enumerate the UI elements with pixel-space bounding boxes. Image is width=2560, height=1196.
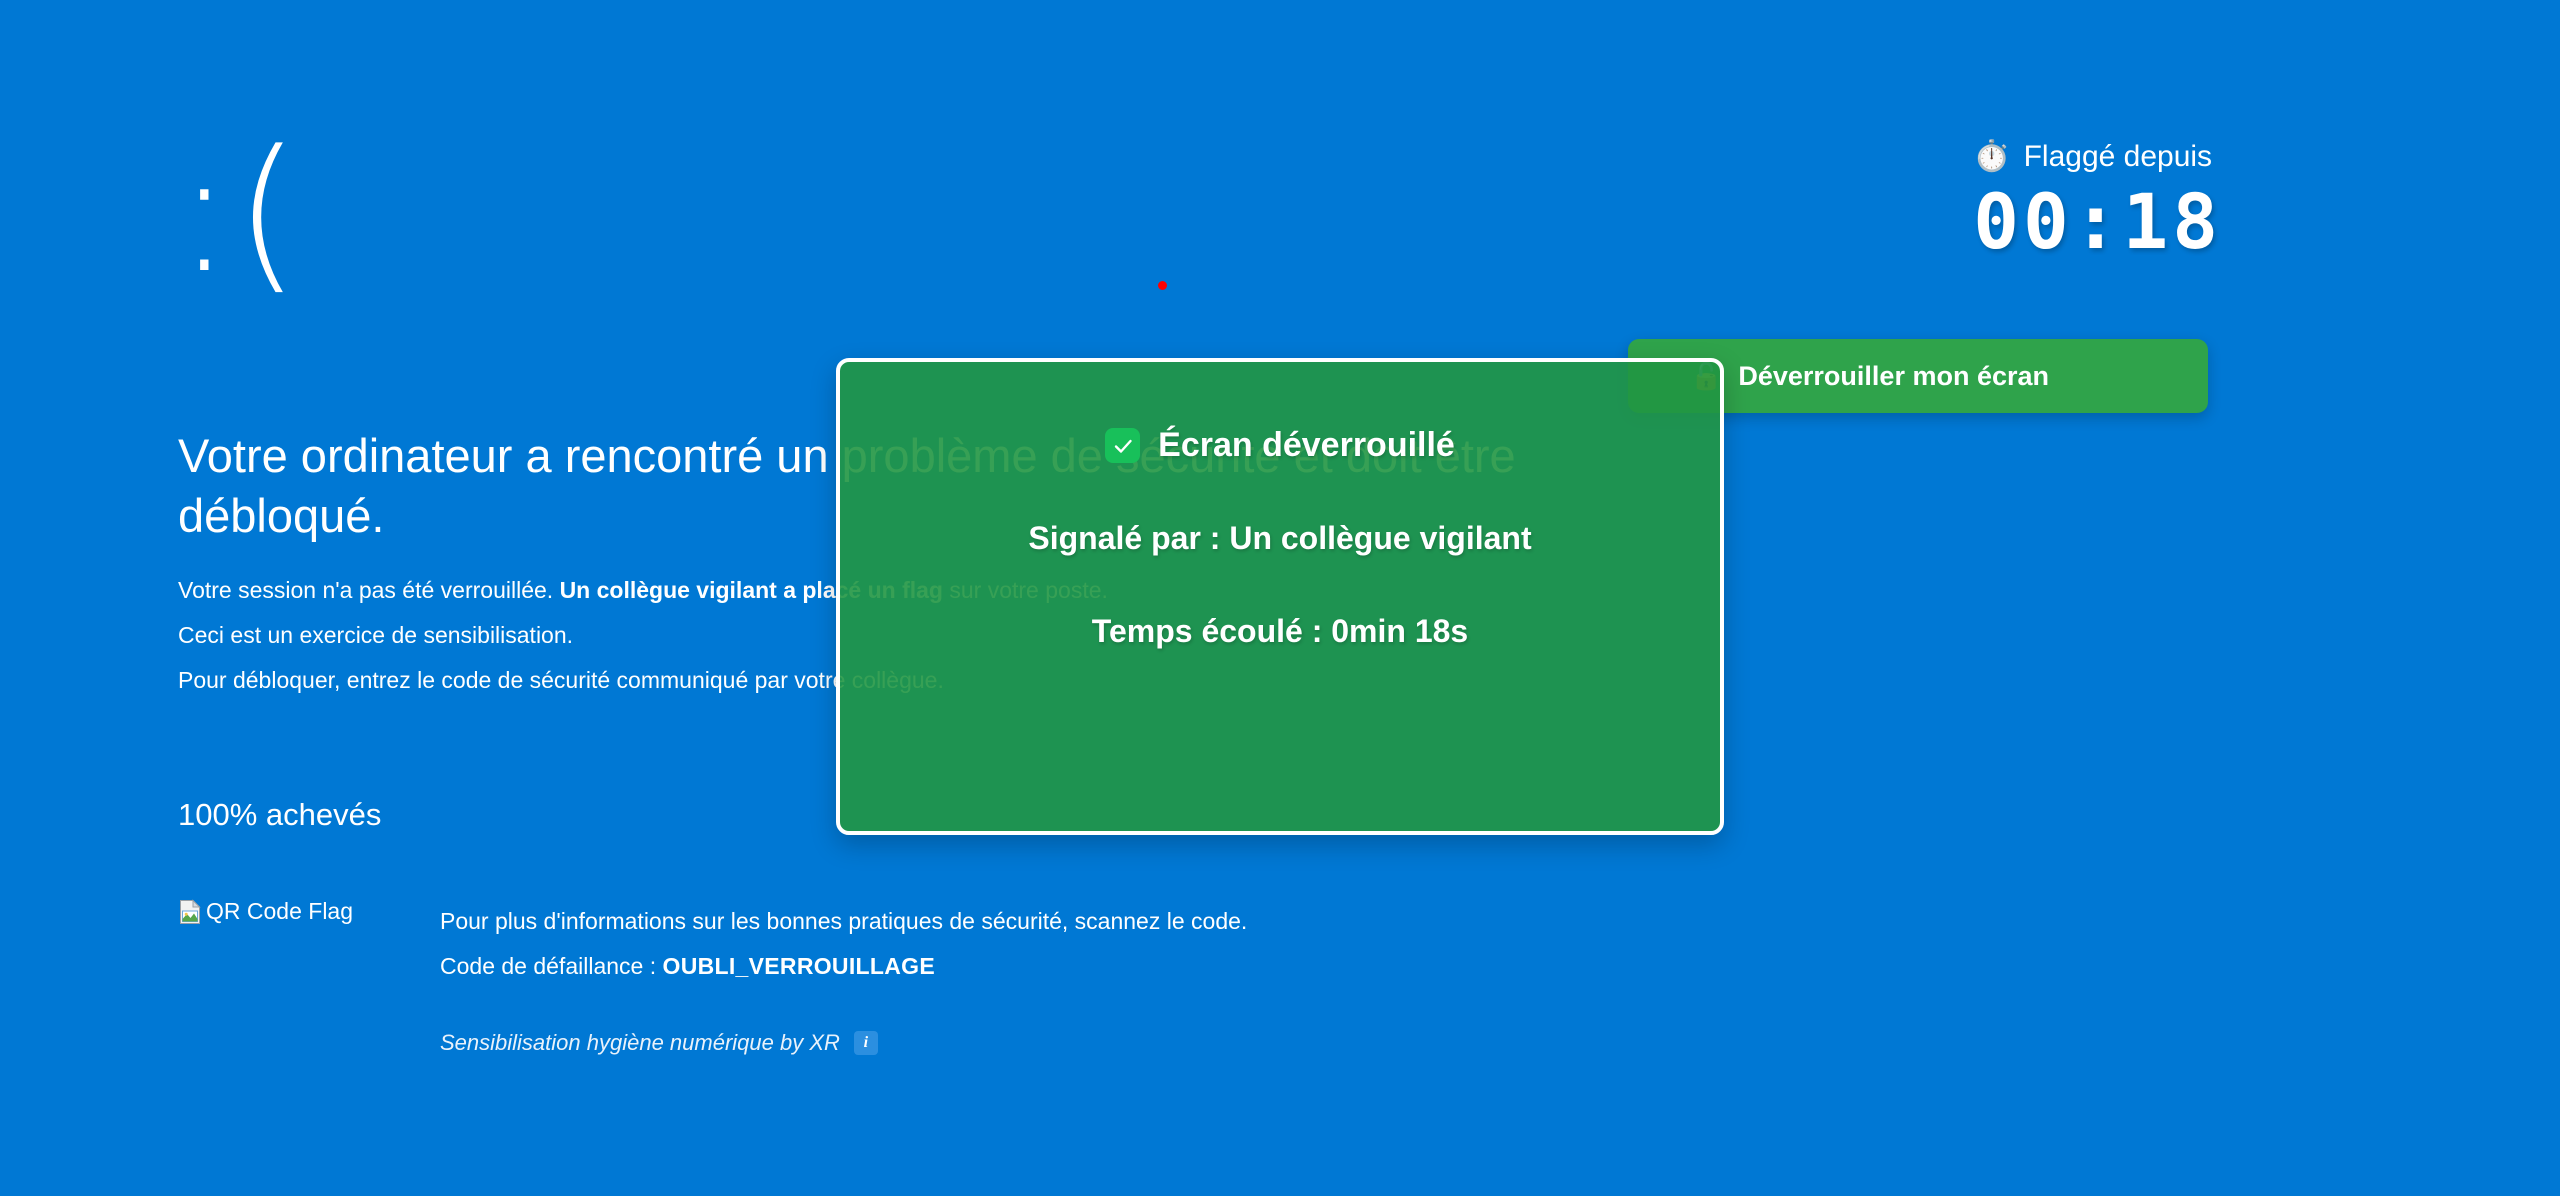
timer-label-row: ⏱️ Flaggé depuis — [1973, 140, 2222, 174]
modal-reporter: Signalé par : Un collègue vigilant — [1028, 520, 1531, 557]
cursor-dot — [1158, 281, 1167, 290]
modal-title: Écran déverrouillé — [1158, 426, 1455, 465]
failure-code-label: Code de défaillance : — [440, 953, 663, 979]
broken-image-alt: QR Code Flag — [178, 898, 353, 925]
footer-credit-text: Sensibilisation hygiène numérique by XR — [440, 1030, 840, 1056]
check-icon — [1105, 428, 1140, 463]
unlock-success-modal: Écran déverrouillé Signalé par : Un coll… — [836, 358, 1724, 835]
failure-code-line: Code de défaillance : OUBLI_VERROUILLAGE — [440, 944, 1247, 989]
progress-text: 100% achevés — [178, 797, 381, 833]
modal-elapsed: Temps écoulé : 0min 18s — [1092, 613, 1468, 650]
scan-hint: Pour plus d'informations sur les bonnes … — [440, 899, 1247, 944]
qr-info-text: Pour plus d'informations sur les bonnes … — [440, 899, 1247, 989]
footer-credit: Sensibilisation hygiène numérique by XR … — [440, 1030, 878, 1056]
broken-image-alt-text: QR Code Flag — [206, 898, 353, 925]
unlock-button-label: Déverrouiller mon écran — [1738, 361, 2049, 392]
stopwatch-icon: ⏱️ — [1973, 142, 2010, 172]
modal-title-row: Écran déverrouillé — [1105, 426, 1455, 465]
body-line-1-normal: Votre session n'a pas été verrouillée. — [178, 577, 560, 603]
timer-label: Flaggé depuis — [2024, 140, 2212, 174]
lock-screen: :( Votre ordinateur a rencontré un probl… — [0, 0, 2560, 1196]
flag-timer: ⏱️ Flaggé depuis 00:18 — [1973, 140, 2222, 262]
info-icon[interactable]: i — [854, 1031, 878, 1055]
qr-code-placeholder: QR Code Flag — [178, 898, 353, 925]
sad-face-icon: :( — [176, 128, 302, 296]
timer-value: 00:18 — [1973, 182, 2222, 262]
broken-image-icon — [178, 899, 204, 925]
failure-code-value: OUBLI_VERROUILLAGE — [663, 953, 935, 979]
